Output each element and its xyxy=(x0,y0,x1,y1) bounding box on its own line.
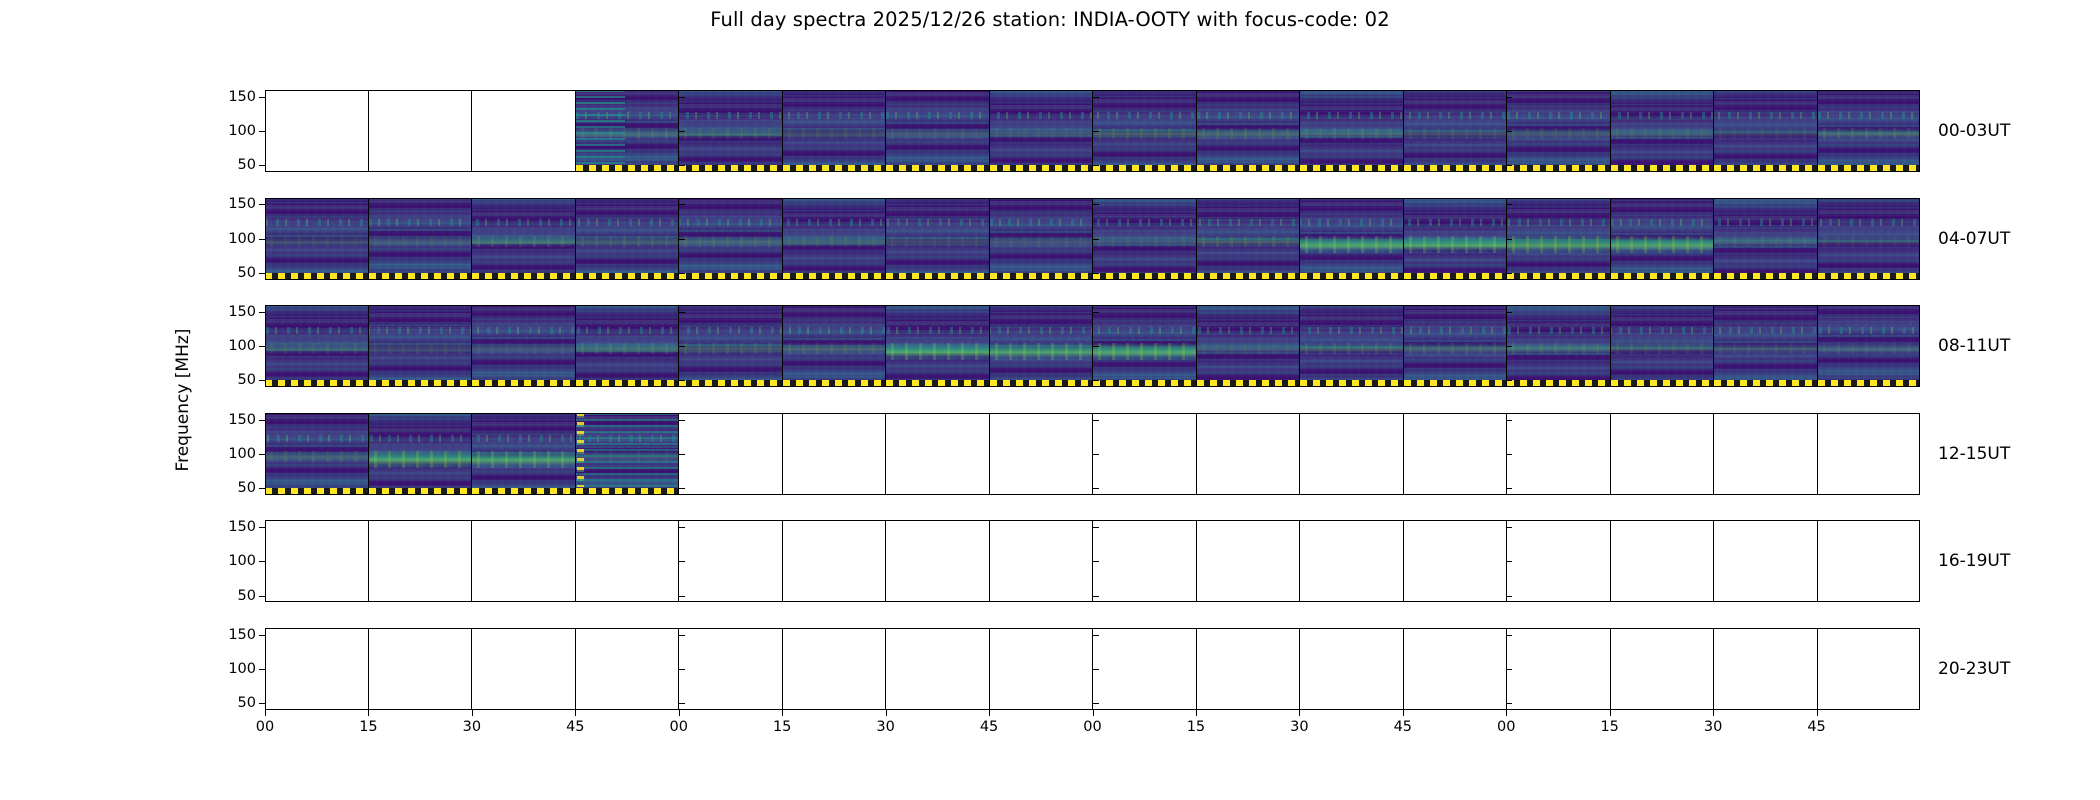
frequency-marker-strip xyxy=(265,488,368,495)
y-tick-interior xyxy=(1093,380,1099,381)
frequency-marker-strip xyxy=(783,273,886,280)
spectrogram-panel xyxy=(1197,90,1301,172)
spectrogram-panel xyxy=(886,90,990,172)
x-tick xyxy=(1817,710,1818,716)
saturated-burst xyxy=(577,413,584,487)
frequency-marker-strip xyxy=(1197,380,1300,387)
emission-band xyxy=(679,236,782,247)
rfi-speckle-band xyxy=(472,435,575,442)
frequency-marker-strip xyxy=(990,380,1093,387)
empty-panel xyxy=(679,628,783,710)
emission-band xyxy=(265,343,368,354)
emission-band xyxy=(1093,343,1196,360)
x-tick-label: 00 xyxy=(256,719,274,735)
rfi-speckle-band xyxy=(1611,219,1714,226)
x-tick xyxy=(782,710,783,716)
spectrogram-figure: Full day spectra 2025/12/26 station: IND… xyxy=(0,0,2100,800)
empty-panel xyxy=(472,90,576,172)
y-tick-interior xyxy=(1506,97,1512,98)
x-tick xyxy=(368,710,369,716)
empty-panel xyxy=(1818,520,1921,602)
empty-panel xyxy=(1404,628,1508,710)
y-tick-interior xyxy=(1506,346,1512,347)
frequency-marker-strip xyxy=(886,380,989,387)
empty-panel xyxy=(576,520,680,602)
y-tick-interior xyxy=(1093,596,1099,597)
y-tick-interior xyxy=(1093,420,1099,421)
empty-panel xyxy=(265,628,369,710)
y-tick-label: 50 xyxy=(238,157,256,173)
rfi-speckle-band xyxy=(1197,327,1300,334)
x-tick xyxy=(472,710,473,716)
rfi-speckle-band xyxy=(576,219,679,226)
y-tick xyxy=(259,131,265,132)
frequency-marker-strip xyxy=(1818,380,1921,387)
spectrogram-panel xyxy=(1300,90,1404,172)
row-time-label: 16-19UT xyxy=(1938,551,2010,571)
y-tick-label: 100 xyxy=(228,338,256,354)
frequency-marker-strip xyxy=(1714,273,1817,280)
rfi-speckle-band xyxy=(1818,219,1921,226)
rfi-speckle-band xyxy=(1611,327,1714,334)
empty-panel xyxy=(886,520,990,602)
y-tick-interior xyxy=(679,312,685,313)
emission-band xyxy=(1714,343,1817,354)
y-tick-interior xyxy=(679,488,685,489)
rfi-speckle-band xyxy=(886,327,989,334)
frequency-marker-strip xyxy=(1300,165,1403,172)
frequency-marker-strip xyxy=(1404,165,1507,172)
spectrogram-panel xyxy=(1093,198,1197,280)
empty-panel xyxy=(1714,413,1818,495)
spectrogram-row: 1501005004-07UT xyxy=(265,198,1920,280)
empty-panel xyxy=(1507,628,1611,710)
rfi-speckle-band xyxy=(679,219,782,226)
frequency-marker-strip xyxy=(990,165,1093,172)
empty-panel xyxy=(472,520,576,602)
x-tick-label: 00 xyxy=(670,719,688,735)
frequency-marker-strip xyxy=(1404,380,1507,387)
spectrogram-panel xyxy=(1404,305,1508,387)
y-tick-interior xyxy=(1093,165,1099,166)
x-tick xyxy=(1403,710,1404,716)
frequency-marker-strip xyxy=(369,380,472,387)
emission-band xyxy=(1818,236,1921,247)
emission-band xyxy=(1507,236,1610,253)
x-tick-label: 30 xyxy=(463,719,481,735)
empty-panel xyxy=(1611,413,1715,495)
y-tick-interior xyxy=(679,204,685,205)
spectrogram-panel xyxy=(1404,198,1508,280)
rfi-speckle-band xyxy=(1093,219,1196,226)
rfi-speckle-band xyxy=(265,327,368,334)
rfi-comb xyxy=(576,413,679,495)
y-tick-interior xyxy=(1506,669,1512,670)
spectrogram-panel xyxy=(472,413,576,495)
spectrogram-panel xyxy=(1611,90,1715,172)
y-tick-interior xyxy=(1093,454,1099,455)
empty-panel xyxy=(265,90,369,172)
x-tick-label: 45 xyxy=(1807,719,1825,735)
y-tick xyxy=(259,527,265,528)
spectrogram-panel xyxy=(1507,198,1611,280)
spectrogram-panel xyxy=(369,413,473,495)
y-tick-interior xyxy=(1093,312,1099,313)
empty-panel xyxy=(783,413,887,495)
frequency-marker-strip xyxy=(1197,273,1300,280)
y-tick-interior xyxy=(679,239,685,240)
rfi-speckle-band xyxy=(783,327,886,334)
empty-panel xyxy=(990,413,1094,495)
spectrogram-panel xyxy=(990,198,1094,280)
spectrogram-panel xyxy=(1714,305,1818,387)
spectrogram-panel xyxy=(576,413,680,495)
frequency-marker-strip xyxy=(576,273,679,280)
empty-panel xyxy=(1611,520,1715,602)
emission-band xyxy=(990,128,1093,139)
frequency-marker-strip xyxy=(369,273,472,280)
y-tick xyxy=(259,380,265,381)
empty-panel xyxy=(1093,520,1197,602)
spectrogram-panel xyxy=(783,305,887,387)
y-tick-interior xyxy=(1093,131,1099,132)
frequency-marker-strip xyxy=(1197,165,1300,172)
emission-band xyxy=(1507,343,1610,354)
y-tick-interior xyxy=(1506,703,1512,704)
y-tick-interior xyxy=(1506,165,1512,166)
empty-panel xyxy=(1611,628,1715,710)
y-tick-label: 150 xyxy=(228,412,256,428)
frequency-marker-strip xyxy=(783,380,886,387)
spectrogram-panel xyxy=(369,198,473,280)
emission-band xyxy=(1818,343,1921,354)
frequency-marker-strip xyxy=(1507,273,1610,280)
x-tick-label: 15 xyxy=(1187,719,1205,735)
spectrogram-row: 1501005020-23UT xyxy=(265,628,1920,710)
empty-panel xyxy=(679,413,783,495)
empty-panel xyxy=(1714,520,1818,602)
rfi-speckle-band xyxy=(1818,112,1921,119)
spectrogram-panel xyxy=(265,305,369,387)
y-tick xyxy=(259,669,265,670)
y-tick-label: 50 xyxy=(238,695,256,711)
spectrogram-panel xyxy=(1300,305,1404,387)
rfi-speckle-band xyxy=(886,112,989,119)
x-tick xyxy=(1506,710,1507,716)
empty-panel xyxy=(472,628,576,710)
y-tick xyxy=(259,312,265,313)
y-axis-label: Frequency [MHz] xyxy=(173,329,193,472)
emission-band xyxy=(1300,236,1403,253)
y-tick-label: 150 xyxy=(228,304,256,320)
rfi-speckle-band xyxy=(369,435,472,442)
empty-panel xyxy=(1300,413,1404,495)
y-tick-interior xyxy=(1506,420,1512,421)
rfi-speckle-band xyxy=(1197,219,1300,226)
emission-band xyxy=(1093,128,1196,139)
y-tick-interior xyxy=(1093,488,1099,489)
rfi-speckle-band xyxy=(990,219,1093,226)
x-axis: 00153045001530450015304500153045 xyxy=(265,710,1920,750)
frequency-marker-strip xyxy=(886,165,989,172)
rfi-speckle-band xyxy=(1818,327,1921,334)
spectrogram-panel xyxy=(472,198,576,280)
emission-band xyxy=(472,236,575,247)
frequency-marker-strip xyxy=(1507,165,1610,172)
spectrogram-panel xyxy=(369,305,473,387)
spectrogram-panel xyxy=(679,305,783,387)
x-tick-label: 45 xyxy=(566,719,584,735)
rfi-speckle-band xyxy=(886,219,989,226)
y-tick-interior xyxy=(679,596,685,597)
empty-panel xyxy=(576,628,680,710)
emission-band xyxy=(990,236,1093,247)
y-tick-interior xyxy=(1093,204,1099,205)
emission-band xyxy=(783,236,886,247)
frequency-marker-strip xyxy=(679,273,782,280)
y-tick-interior xyxy=(679,131,685,132)
frequency-marker-strip xyxy=(1404,273,1507,280)
rfi-speckle-band xyxy=(1507,219,1610,226)
emission-band xyxy=(1818,128,1921,139)
y-tick-interior xyxy=(679,527,685,528)
emission-band xyxy=(265,451,368,462)
frequency-marker-strip xyxy=(1093,165,1196,172)
rfi-speckle-band xyxy=(1404,112,1507,119)
frequency-marker-strip xyxy=(265,273,368,280)
y-tick-interior xyxy=(1506,635,1512,636)
empty-panel xyxy=(1197,413,1301,495)
empty-panel xyxy=(1093,413,1197,495)
y-tick-interior xyxy=(679,346,685,347)
emission-band xyxy=(369,343,472,354)
spectrogram-panel xyxy=(783,90,887,172)
y-tick-interior xyxy=(1093,703,1099,704)
emission-band xyxy=(1300,128,1403,139)
rfi-speckle-band xyxy=(1714,219,1817,226)
x-tick-label: 30 xyxy=(1704,719,1722,735)
y-tick-interior xyxy=(1506,596,1512,597)
empty-panel xyxy=(1197,520,1301,602)
y-tick-interior xyxy=(679,635,685,636)
x-tick xyxy=(1610,710,1611,716)
x-tick-label: 15 xyxy=(773,719,791,735)
spectrogram-panel xyxy=(1714,198,1818,280)
y-tick-label: 50 xyxy=(238,480,256,496)
empty-panel xyxy=(886,628,990,710)
emission-band xyxy=(1507,128,1610,139)
frequency-marker-strip xyxy=(1093,380,1196,387)
rfi-speckle-band xyxy=(369,327,472,334)
spectrogram-row: 1501005016-19UT xyxy=(265,520,1920,602)
x-tick-label: 00 xyxy=(1083,719,1101,735)
emission-band xyxy=(886,343,989,360)
empty-panel xyxy=(679,520,783,602)
empty-panel xyxy=(1197,628,1301,710)
spectrogram-panel xyxy=(1093,90,1197,172)
y-tick-interior xyxy=(679,454,685,455)
frequency-marker-strip xyxy=(1714,380,1817,387)
empty-panel xyxy=(990,628,1094,710)
frequency-marker-strip xyxy=(679,165,782,172)
y-tick-interior xyxy=(1506,204,1512,205)
spectrogram-panel xyxy=(1818,305,1921,387)
x-tick-label: 15 xyxy=(359,719,377,735)
rfi-speckle-band xyxy=(1093,327,1196,334)
frequency-marker-strip xyxy=(472,488,575,495)
empty-panel xyxy=(1404,413,1508,495)
x-tick-label: 15 xyxy=(1600,719,1618,735)
spectrogram-panel xyxy=(886,198,990,280)
emission-band xyxy=(576,343,679,354)
spectrogram-panel xyxy=(1300,198,1404,280)
emission-band xyxy=(1611,128,1714,139)
y-tick-interior xyxy=(679,561,685,562)
frequency-marker-strip xyxy=(576,165,679,172)
frequency-marker-strip xyxy=(472,273,575,280)
emission-band xyxy=(369,236,472,247)
y-tick-label: 100 xyxy=(228,553,256,569)
x-tick-label: 45 xyxy=(980,719,998,735)
emission-band xyxy=(1404,343,1507,354)
emission-band xyxy=(783,343,886,354)
x-tick xyxy=(1299,710,1300,716)
rfi-speckle-band xyxy=(1404,327,1507,334)
emission-band xyxy=(472,451,575,468)
y-tick-interior xyxy=(1506,527,1512,528)
emission-band xyxy=(1300,343,1403,354)
frequency-marker-strip xyxy=(1611,380,1714,387)
frequency-marker-strip xyxy=(265,380,368,387)
y-tick-interior xyxy=(679,703,685,704)
rfi-speckle-band xyxy=(990,112,1093,119)
y-tick-label: 100 xyxy=(228,123,256,139)
spectrogram-panel xyxy=(1818,198,1921,280)
empty-panel xyxy=(783,520,887,602)
rfi-speckle-band xyxy=(1507,327,1610,334)
spectrogram-panel xyxy=(1404,90,1508,172)
frequency-marker-strip xyxy=(1093,273,1196,280)
y-tick-label: 150 xyxy=(228,519,256,535)
empty-panel xyxy=(1300,520,1404,602)
y-tick xyxy=(259,273,265,274)
frequency-marker-strip xyxy=(679,380,782,387)
row-time-label: 12-15UT xyxy=(1938,444,2010,464)
y-tick xyxy=(259,703,265,704)
y-tick xyxy=(259,165,265,166)
empty-panel xyxy=(1300,628,1404,710)
rfi-speckle-band xyxy=(1714,112,1817,119)
emission-band xyxy=(679,128,782,139)
y-tick-interior xyxy=(1093,635,1099,636)
rfi-speckle-band xyxy=(1507,112,1610,119)
figure-title: Full day spectra 2025/12/26 station: IND… xyxy=(0,8,2100,31)
y-tick-label: 150 xyxy=(228,89,256,105)
rfi-speckle-band xyxy=(265,435,368,442)
rfi-speckle-band xyxy=(472,219,575,226)
spectrogram-panel xyxy=(1507,305,1611,387)
y-tick-interior xyxy=(1506,454,1512,455)
y-tick-interior xyxy=(1506,561,1512,562)
empty-panel xyxy=(1507,520,1611,602)
spectrogram-panel xyxy=(576,90,680,172)
emission-band xyxy=(1093,236,1196,247)
spectrogram-panel xyxy=(265,198,369,280)
spectrogram-panel xyxy=(1714,90,1818,172)
y-tick xyxy=(259,346,265,347)
emission-band xyxy=(1611,343,1714,354)
rfi-speckle-band xyxy=(990,327,1093,334)
plot-area: 1501005000-03UT1501005004-07UT1501005008… xyxy=(265,90,1920,710)
y-tick-interior xyxy=(1093,239,1099,240)
y-tick xyxy=(259,239,265,240)
y-tick-interior xyxy=(1093,97,1099,98)
frequency-marker-strip xyxy=(1818,165,1921,172)
empty-panel xyxy=(990,520,1094,602)
spectrogram-panel xyxy=(1507,90,1611,172)
empty-panel xyxy=(1818,628,1921,710)
frequency-marker-strip xyxy=(1300,273,1403,280)
spectrogram-panel xyxy=(679,198,783,280)
spectrogram-panel xyxy=(576,198,680,280)
y-tick-interior xyxy=(1093,346,1099,347)
y-tick-interior xyxy=(679,380,685,381)
spectrogram-panel xyxy=(1818,90,1921,172)
emission-band xyxy=(1404,128,1507,139)
rfi-comb xyxy=(576,90,625,172)
y-tick-interior xyxy=(1506,239,1512,240)
frequency-marker-strip xyxy=(1507,380,1610,387)
emission-band xyxy=(1611,236,1714,253)
spectrogram-row: 1501005008-11UT xyxy=(265,305,1920,387)
rfi-speckle-band xyxy=(1714,327,1817,334)
y-tick-interior xyxy=(679,273,685,274)
frequency-marker-strip xyxy=(369,488,472,495)
emission-band xyxy=(679,343,782,354)
y-tick-interior xyxy=(1506,131,1512,132)
x-tick xyxy=(575,710,576,716)
emission-band xyxy=(783,128,886,139)
frequency-marker-strip xyxy=(1611,165,1714,172)
emission-band xyxy=(265,236,368,247)
y-tick-interior xyxy=(1093,561,1099,562)
spectrogram-panel xyxy=(886,305,990,387)
y-tick-interior xyxy=(1506,488,1512,489)
empty-panel xyxy=(1093,628,1197,710)
spectrogram-panel xyxy=(472,305,576,387)
x-tick-label: 30 xyxy=(876,719,894,735)
rfi-speckle-band xyxy=(679,327,782,334)
empty-panel xyxy=(783,628,887,710)
empty-panel xyxy=(369,628,473,710)
frequency-marker-strip xyxy=(990,273,1093,280)
y-tick-interior xyxy=(1506,380,1512,381)
x-tick xyxy=(886,710,887,716)
frequency-marker-strip xyxy=(1714,165,1817,172)
frequency-marker-strip xyxy=(886,273,989,280)
y-tick-interior xyxy=(679,97,685,98)
emission-band xyxy=(990,343,1093,360)
rfi-speckle-band xyxy=(1300,219,1403,226)
empty-panel xyxy=(369,90,473,172)
spectrogram-panel xyxy=(783,198,887,280)
emission-band xyxy=(886,128,989,139)
spectrogram-panel xyxy=(576,305,680,387)
spectrogram-panel xyxy=(265,413,369,495)
frequency-marker-strip xyxy=(1818,273,1921,280)
y-tick-interior xyxy=(1506,273,1512,274)
x-tick xyxy=(1093,710,1094,716)
